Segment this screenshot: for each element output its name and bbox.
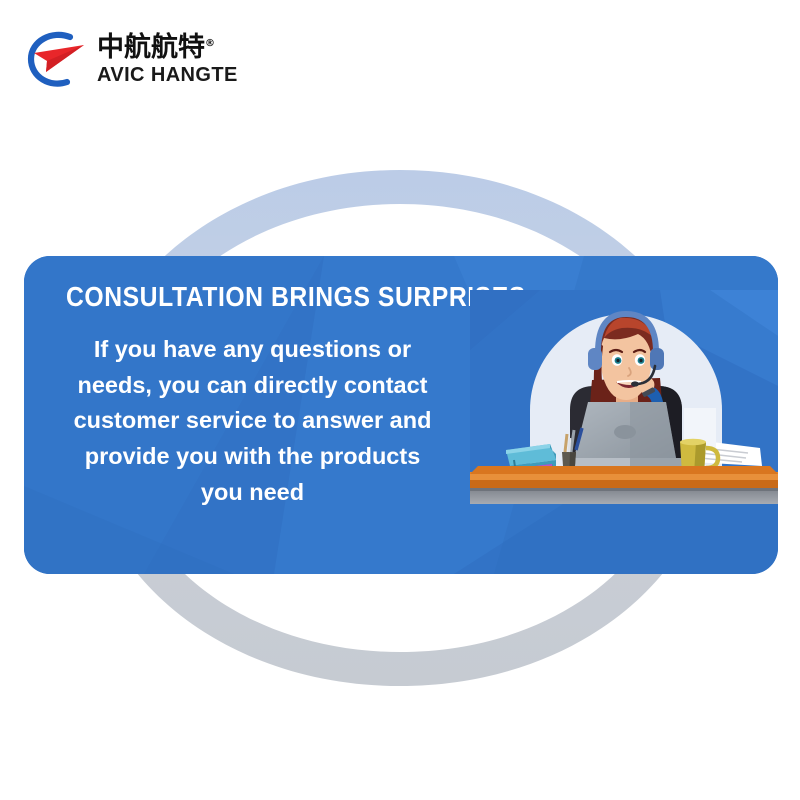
card-title: CONSULTATION BRINGS SURPRISES <box>66 283 444 311</box>
body-line: customer service to answer and <box>50 403 455 439</box>
card-body-text: If you have any questions or needs, you … <box>50 332 455 511</box>
customer-service-agent-illustration <box>470 290 778 504</box>
promo-card: CONSULTATION BRINGS SURPRISES If you hav… <box>24 256 778 574</box>
body-line: you need <box>50 475 455 511</box>
brand-chinese-name: 中航航特® <box>97 34 238 61</box>
brand-logo: 中航航特® AVIC HANGTE <box>26 30 238 88</box>
banner-canvas: 中航航特® AVIC HANGTE CONSULTATION BRINGS SU… <box>0 0 800 800</box>
card-text-content: CONSULTATION BRINGS SURPRISES If you hav… <box>24 256 476 574</box>
brand-english-name: AVIC HANGTE <box>97 65 238 85</box>
body-line: provide you with the products <box>50 439 455 475</box>
body-line: If you have any questions or <box>50 332 455 368</box>
body-line: needs, you can directly contact <box>50 368 455 404</box>
registered-trademark-icon: ® <box>205 38 215 49</box>
avic-swoosh-logo-icon <box>26 30 88 88</box>
brand-text-block: 中航航特® AVIC HANGTE <box>97 34 238 85</box>
